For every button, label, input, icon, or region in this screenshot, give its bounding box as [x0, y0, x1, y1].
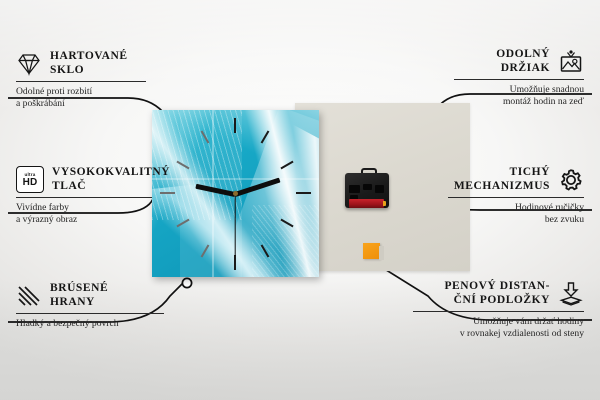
feature-desc-line2: a výrazný obraz	[16, 214, 152, 226]
feature-desc-line2: bez zvuku	[448, 214, 584, 226]
tick-4	[280, 219, 293, 228]
tick-2	[280, 161, 293, 170]
tick-10	[176, 161, 189, 170]
feature-divider	[448, 197, 584, 198]
node-polished-edges	[182, 278, 191, 287]
movement-body	[345, 173, 389, 208]
feature-title-line1: VYSOKOKVALITNÝ	[52, 166, 170, 180]
second-hand	[234, 194, 235, 256]
feature-title-line1: HARTOVANÉ	[50, 50, 128, 64]
feature-desc-line1: Hladký a bezpečný povrch	[16, 318, 164, 330]
feature-desc-line2: montáž hodin na zeď	[454, 96, 584, 108]
wall-clock-face	[152, 110, 319, 277]
feature-desc-line1: Odolné proti rozbití	[16, 86, 146, 98]
tick-6	[234, 255, 236, 270]
tick-12	[234, 118, 236, 133]
feature-title-line2: HRANY	[50, 296, 108, 310]
feature-title-line1: ODOLNÝ	[496, 48, 550, 62]
tick-5	[261, 244, 270, 257]
diamond-icon	[16, 51, 42, 77]
hour-hand	[195, 183, 235, 196]
feature-desc-line2: v rovnakej vzdialenosti od steny	[413, 328, 584, 340]
feature-divider	[413, 311, 584, 312]
feature-title-line1: BRÚSENÉ	[50, 282, 108, 296]
feature-title-line2: TLAČ	[52, 180, 170, 194]
tick-3	[296, 192, 311, 194]
feature-divider	[16, 313, 164, 314]
feature-title-line1: PENOVÝ DISTAN-	[444, 280, 550, 294]
centre-pin	[233, 191, 238, 196]
feature-foam-spacers: PENOVÝ DISTAN- ČNÍ PODLOŽKY Umožňuje vám…	[413, 280, 584, 340]
tick-7	[201, 244, 210, 257]
feature-desc-line1: Umožňuje vám držať hodiny	[413, 316, 584, 328]
feature-polished-edges: BRÚSENÉ HRANY Hladký a bezpečný povrch	[16, 282, 164, 330]
feature-desc-line2: a poškrábání	[16, 98, 146, 110]
infographic-canvas: HARTOVANÉ SKLO Odolné proti rozbití a po…	[0, 0, 600, 400]
feature-title-line2: ČNÍ PODLOŽKY	[444, 294, 550, 308]
feature-title-line1: TICHÝ	[454, 166, 550, 180]
feature-desc-line1: Vivídne farby	[16, 202, 152, 214]
feature-divider	[16, 197, 152, 198]
wall-picture-hanger-icon	[558, 49, 584, 75]
feature-divider	[16, 81, 146, 82]
clock-movement	[345, 168, 389, 208]
feature-high-quality-print: ultra HD VYSOKOKVALITNÝ TLAČ Vivídne far…	[16, 166, 152, 226]
feature-title-line2: DRŽIAK	[496, 62, 550, 76]
feature-title-line2: MECHANIZMUS	[454, 180, 550, 194]
feature-title-line2: SKLO	[50, 64, 128, 78]
tick-1	[261, 130, 270, 143]
tick-11	[201, 130, 210, 143]
feature-silent-mechanism: TICHÝ MECHANIZMUS Hodinové ručičky bez z…	[448, 166, 584, 226]
tick-8	[176, 219, 189, 228]
ultra-hd-icon-main-label: HD	[23, 177, 38, 188]
diagonal-lines-icon	[16, 283, 42, 309]
battery	[349, 199, 384, 208]
ultra-hd-icon: ultra HD	[16, 166, 44, 193]
gear-icon	[558, 167, 584, 193]
feature-desc-line1: Hodinové ručičky	[448, 202, 584, 214]
arrow-onto-stack-icon	[558, 281, 584, 307]
feature-divider	[454, 79, 584, 80]
feature-durable-hanger: ODOLNÝ DRŽIAK Umožňuje snadnou montáž ho…	[454, 48, 584, 108]
feature-tempered-glass: HARTOVANÉ SKLO Odolné proti rozbití a po…	[16, 50, 146, 110]
feature-desc-line1: Umožňuje snadnou	[454, 84, 584, 96]
foam-spacer-pad	[363, 243, 380, 259]
